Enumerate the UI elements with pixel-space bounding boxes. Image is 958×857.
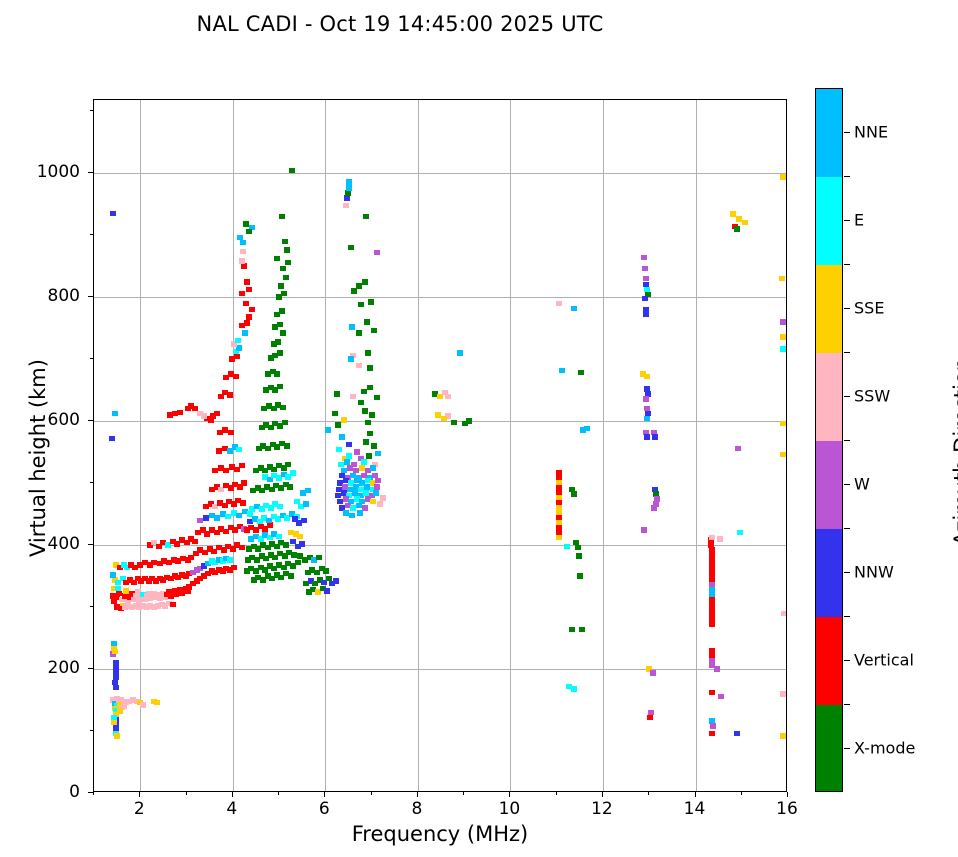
echo-marker — [197, 411, 203, 417]
echo-marker — [350, 394, 356, 400]
echo-marker — [249, 307, 255, 313]
echo-marker — [362, 279, 368, 285]
echo-marker — [365, 420, 371, 426]
echo-marker — [714, 666, 720, 672]
colorbar-tick — [844, 572, 850, 573]
echo-marker — [239, 545, 245, 551]
colorbar-segment-nne[interactable] — [816, 89, 842, 177]
echo-marker — [346, 453, 352, 459]
echo-marker — [236, 447, 242, 453]
echo-marker — [780, 452, 786, 458]
y-axis-tick-label: 0 — [20, 782, 80, 802]
x-axis-tick-label: 16 — [776, 799, 798, 819]
x-axis-minor-tick — [556, 792, 557, 795]
x-axis-title: Frequency (MHz) — [93, 822, 787, 846]
echo-marker — [290, 470, 296, 476]
echo-marker — [240, 240, 246, 246]
echo-marker — [364, 319, 370, 325]
echo-marker — [299, 541, 305, 547]
echo-marker — [780, 733, 786, 739]
colorbar-tick — [844, 132, 850, 133]
echo-marker — [380, 495, 386, 501]
echo-marker — [228, 430, 234, 436]
echo-marker — [333, 578, 339, 584]
echo-marker — [734, 731, 740, 737]
x-axis-tick — [602, 792, 603, 797]
y-axis-minor-tick — [90, 606, 93, 607]
echo-marker — [354, 449, 360, 455]
y-axis-tick — [88, 172, 93, 173]
echo-marker — [709, 622, 715, 628]
echo-marker — [287, 484, 293, 490]
colorbar-label-x-mode: X-mode — [854, 739, 915, 758]
echo-marker — [441, 416, 447, 422]
echo-marker — [243, 221, 249, 227]
echo-marker — [235, 338, 241, 344]
echo-marker — [735, 446, 741, 452]
echo-marker — [356, 330, 362, 336]
echo-marker — [370, 465, 376, 471]
echo-marker — [343, 510, 349, 516]
gridline-horizontal — [94, 297, 786, 298]
echo-marker — [243, 301, 249, 307]
echo-marker — [356, 363, 362, 369]
echo-marker — [709, 535, 715, 541]
echo-marker — [283, 542, 289, 548]
y-axis-minor-tick — [90, 110, 93, 111]
colorbar-label-ssw: SSW — [854, 387, 890, 406]
echo-marker — [370, 499, 376, 505]
x-axis-tick — [324, 792, 325, 797]
echo-marker — [641, 255, 647, 261]
echo-marker — [346, 179, 352, 185]
x-axis-minor-tick — [463, 792, 464, 795]
echo-marker — [362, 408, 368, 414]
echo-marker — [214, 411, 220, 417]
colorbar-tick — [844, 220, 850, 221]
echo-marker — [569, 627, 575, 633]
echo-marker — [641, 527, 647, 533]
echo-marker — [647, 715, 653, 721]
echo-marker — [288, 530, 294, 536]
echo-marker — [781, 611, 787, 617]
echo-marker — [246, 229, 252, 235]
echo-marker — [282, 239, 288, 245]
echo-marker — [280, 330, 286, 336]
gridline-vertical — [325, 100, 326, 791]
echo-marker — [780, 421, 786, 427]
echo-marker — [290, 539, 296, 545]
echo-marker — [285, 462, 291, 468]
echo-marker — [336, 447, 342, 453]
y-axis-tick — [88, 420, 93, 421]
colorbar-boundary-tick — [844, 352, 850, 353]
echo-marker — [780, 346, 786, 352]
x-axis-tick-label: 14 — [684, 799, 706, 819]
echo-marker — [650, 670, 656, 676]
echo-marker — [112, 649, 118, 655]
echo-marker — [301, 518, 307, 524]
echo-marker — [374, 484, 380, 490]
echo-marker — [244, 320, 250, 326]
echo-marker — [241, 263, 247, 269]
echo-marker — [267, 522, 273, 528]
echo-marker — [277, 384, 283, 390]
echo-marker — [644, 374, 650, 380]
echo-marker — [579, 627, 585, 633]
colorbar-segment-w[interactable] — [816, 441, 842, 529]
x-axis-minor-tick — [186, 792, 187, 795]
colorbar-tick — [844, 748, 850, 749]
echo-marker — [377, 501, 383, 507]
echo-marker — [192, 539, 198, 545]
echo-marker — [363, 214, 369, 220]
echo-marker — [366, 453, 372, 459]
gridline-horizontal — [94, 669, 786, 670]
echo-marker — [112, 411, 118, 417]
echo-marker — [348, 356, 354, 362]
colorbar-boundary-tick — [844, 616, 850, 617]
echo-marker — [358, 400, 364, 406]
echo-marker — [140, 702, 146, 708]
echo-marker — [283, 275, 289, 281]
gridline-vertical — [696, 100, 697, 791]
x-axis-tick-label: 6 — [319, 799, 330, 819]
echo-marker — [288, 573, 294, 579]
echo-marker — [284, 443, 290, 449]
colorbar-boundary-tick — [844, 176, 850, 177]
echo-marker — [279, 214, 285, 220]
x-axis-tick-label: 8 — [411, 799, 422, 819]
colorbar-boundary-tick — [844, 704, 850, 705]
echo-marker — [109, 436, 115, 442]
gridline-horizontal — [94, 173, 786, 174]
x-axis-minor-tick — [371, 792, 372, 795]
echo-marker — [651, 505, 657, 511]
echo-marker — [239, 291, 245, 297]
y-axis-tick — [88, 668, 93, 669]
echo-marker — [375, 478, 381, 484]
colorbar-tick — [844, 396, 850, 397]
echo-marker — [276, 534, 282, 540]
echo-marker — [780, 319, 786, 325]
echo-marker — [110, 211, 116, 217]
x-axis-minor-tick — [93, 792, 94, 795]
colorbar-boundary-tick — [844, 264, 850, 265]
gridline-vertical — [603, 100, 604, 791]
echo-marker — [356, 503, 362, 509]
colorbar-title: Azimuth Direction — [950, 262, 958, 642]
echo-marker — [111, 720, 117, 726]
echo-marker — [113, 685, 119, 691]
colorbar-segment-ssw[interactable] — [816, 353, 842, 441]
echo-marker — [316, 555, 322, 561]
x-axis-minor-tick — [278, 792, 279, 795]
x-axis-tick — [139, 792, 140, 797]
x-axis-tick — [509, 792, 510, 797]
echo-marker — [303, 501, 309, 507]
echo-marker — [643, 396, 649, 402]
echo-marker — [281, 291, 287, 297]
echo-marker — [167, 412, 173, 418]
x-axis-minor-tick — [741, 792, 742, 795]
gridline-vertical — [418, 100, 419, 791]
echo-marker — [277, 504, 283, 510]
echo-marker — [779, 276, 785, 282]
x-axis-minor-tick — [648, 792, 649, 795]
echo-marker — [240, 249, 246, 255]
colorbar-label-nnw: NNW — [854, 563, 894, 582]
echo-marker — [709, 731, 715, 737]
echo-marker — [154, 700, 160, 706]
echo-marker — [367, 431, 373, 437]
echo-marker — [373, 490, 379, 496]
echo-marker — [241, 480, 247, 486]
echo-marker — [246, 314, 252, 320]
y-axis-title: Virtual height (km) — [26, 258, 50, 658]
x-axis-tick-label: 4 — [226, 799, 237, 819]
echo-marker — [367, 385, 373, 391]
echo-marker — [335, 422, 341, 428]
echo-marker — [734, 226, 740, 232]
echo-marker — [242, 330, 248, 336]
echo-marker — [369, 412, 375, 418]
y-axis-tick — [88, 544, 93, 545]
echo-marker — [368, 299, 374, 305]
echo-marker — [278, 283, 284, 289]
echo-marker — [730, 211, 736, 217]
echo-marker — [110, 572, 116, 578]
x-axis-tick — [232, 792, 233, 797]
echo-marker — [709, 690, 715, 696]
echo-marker — [361, 459, 367, 465]
echo-marker — [341, 417, 347, 423]
y-axis-tick-label: 1000 — [20, 162, 80, 182]
y-axis-tick — [88, 296, 93, 297]
echo-marker — [344, 195, 350, 201]
y-axis-tick-label: 200 — [20, 658, 80, 678]
echo-marker — [556, 535, 562, 541]
echo-marker — [237, 235, 243, 241]
echo-marker — [280, 266, 286, 272]
echo-marker — [349, 324, 355, 330]
echo-marker — [584, 426, 590, 432]
echo-marker — [466, 418, 472, 424]
echo-marker — [297, 553, 303, 559]
azimuth-colorbar[interactable] — [815, 88, 843, 792]
echo-marker — [244, 279, 250, 285]
echo-marker — [297, 534, 303, 540]
echo-marker — [644, 416, 650, 422]
colorbar-label-nne: NNE — [854, 123, 888, 142]
echo-marker — [652, 434, 658, 440]
echo-marker — [227, 392, 233, 398]
echo-marker — [367, 365, 373, 371]
y-axis-minor-tick — [90, 730, 93, 731]
echo-marker — [451, 420, 457, 426]
echo-marker — [345, 190, 351, 196]
echo-marker — [374, 250, 380, 256]
echo-marker — [324, 588, 330, 594]
echo-marker — [344, 459, 350, 465]
echo-marker — [282, 420, 288, 426]
echo-marker — [114, 733, 120, 739]
echo-marker — [374, 395, 380, 401]
echo-marker — [371, 443, 377, 449]
echo-marker — [371, 328, 377, 334]
colorbar-label-sse: SSE — [854, 299, 884, 318]
echo-marker — [285, 260, 291, 266]
echo-marker — [351, 288, 357, 294]
y-axis-minor-tick — [90, 234, 93, 235]
echo-marker — [710, 723, 716, 729]
echo-marker — [343, 203, 349, 209]
echo-marker — [231, 565, 237, 571]
ionogram-page: NAL CADI - Oct 19 14:45:00 2025 UTC 2468… — [0, 0, 958, 857]
page-title: NAL CADI - Oct 19 14:45:00 2025 UTC — [0, 12, 800, 36]
echo-marker — [717, 536, 723, 542]
echo-marker — [277, 350, 283, 356]
echo-marker — [284, 247, 290, 253]
echo-marker — [365, 350, 371, 356]
colorbar-label-e: E — [854, 211, 864, 230]
echo-marker — [346, 442, 352, 448]
echo-marker — [571, 306, 577, 312]
echo-marker — [576, 553, 582, 559]
echo-marker — [339, 434, 345, 440]
echo-marker — [642, 296, 648, 302]
echo-marker — [240, 500, 246, 506]
echo-marker — [170, 602, 176, 608]
colorbar-boundary-tick — [844, 528, 850, 529]
echo-marker — [643, 312, 649, 318]
x-axis-tick-label: 12 — [591, 799, 613, 819]
colorbar-segment-e[interactable] — [816, 177, 842, 265]
echo-marker — [742, 220, 748, 226]
echo-marker — [289, 168, 295, 174]
echo-marker — [556, 301, 562, 307]
y-axis-minor-tick — [90, 482, 93, 483]
echo-marker — [571, 491, 577, 497]
echo-marker — [277, 322, 283, 328]
echo-marker — [559, 368, 565, 374]
echo-marker — [346, 185, 352, 191]
colorbar-tick — [844, 484, 850, 485]
echo-marker — [780, 334, 786, 340]
echo-marker — [185, 406, 191, 412]
y-axis-tick — [88, 792, 93, 793]
echo-marker — [577, 573, 583, 579]
echo-marker — [305, 488, 311, 494]
echo-marker — [227, 557, 233, 563]
echo-marker — [246, 287, 252, 293]
echo-marker — [274, 256, 280, 262]
x-axis-tick — [695, 792, 696, 797]
echo-marker — [239, 258, 245, 264]
echo-marker — [358, 302, 364, 308]
colorbar-segment-nnw[interactable] — [816, 529, 842, 617]
echo-marker — [325, 427, 331, 433]
ionogram-plot-area — [93, 99, 787, 792]
gridline-horizontal — [94, 545, 786, 546]
y-axis-minor-tick — [90, 358, 93, 359]
echo-marker — [236, 345, 242, 351]
echo-marker — [334, 391, 340, 397]
echo-marker — [323, 568, 329, 574]
echo-marker — [375, 451, 381, 457]
colorbar-label-vertical: Vertical — [854, 651, 914, 670]
echo-marker — [780, 174, 786, 180]
echo-marker — [291, 552, 297, 558]
echo-marker — [445, 394, 451, 400]
echo-marker — [280, 405, 286, 411]
echo-marker — [643, 276, 649, 282]
gridline-vertical — [510, 100, 511, 791]
echo-marker — [294, 499, 300, 505]
echo-marker — [737, 530, 743, 536]
echo-marker — [644, 434, 650, 440]
echo-marker — [239, 463, 245, 469]
echo-marker — [363, 439, 369, 445]
echo-marker — [780, 691, 786, 697]
colorbar-segment-x-mode[interactable] — [816, 705, 842, 792]
echo-marker — [362, 505, 368, 511]
echo-marker — [292, 516, 298, 522]
x-axis-tick-label: 2 — [134, 799, 145, 819]
echo-marker — [578, 370, 584, 376]
echo-marker — [642, 266, 648, 272]
echo-marker — [233, 374, 239, 380]
x-axis-tick — [787, 792, 788, 797]
x-axis-tick — [417, 792, 418, 797]
gridline-vertical — [140, 100, 141, 791]
echo-marker — [295, 560, 301, 566]
echo-marker — [279, 308, 285, 314]
echo-marker — [275, 339, 281, 345]
x-axis-tick-label: 10 — [499, 799, 521, 819]
colorbar-label-w: W — [854, 475, 870, 494]
echo-marker — [571, 686, 577, 692]
echo-marker — [357, 510, 363, 516]
echo-marker — [736, 216, 742, 222]
echo-marker — [348, 245, 354, 251]
echo-marker — [718, 694, 724, 700]
colorbar-tick — [844, 308, 850, 309]
echo-marker — [564, 544, 570, 550]
colorbar-segment-sse[interactable] — [816, 265, 842, 353]
echo-marker — [234, 354, 240, 360]
echo-marker — [349, 513, 355, 519]
colorbar-segment-vertical[interactable] — [816, 617, 842, 705]
colorbar-boundary-tick — [844, 440, 850, 441]
echo-marker — [177, 410, 183, 416]
colorbar-tick — [844, 660, 850, 661]
echo-marker — [332, 411, 338, 417]
echo-marker — [575, 545, 581, 551]
echo-marker — [457, 350, 463, 356]
echo-marker — [274, 371, 280, 377]
